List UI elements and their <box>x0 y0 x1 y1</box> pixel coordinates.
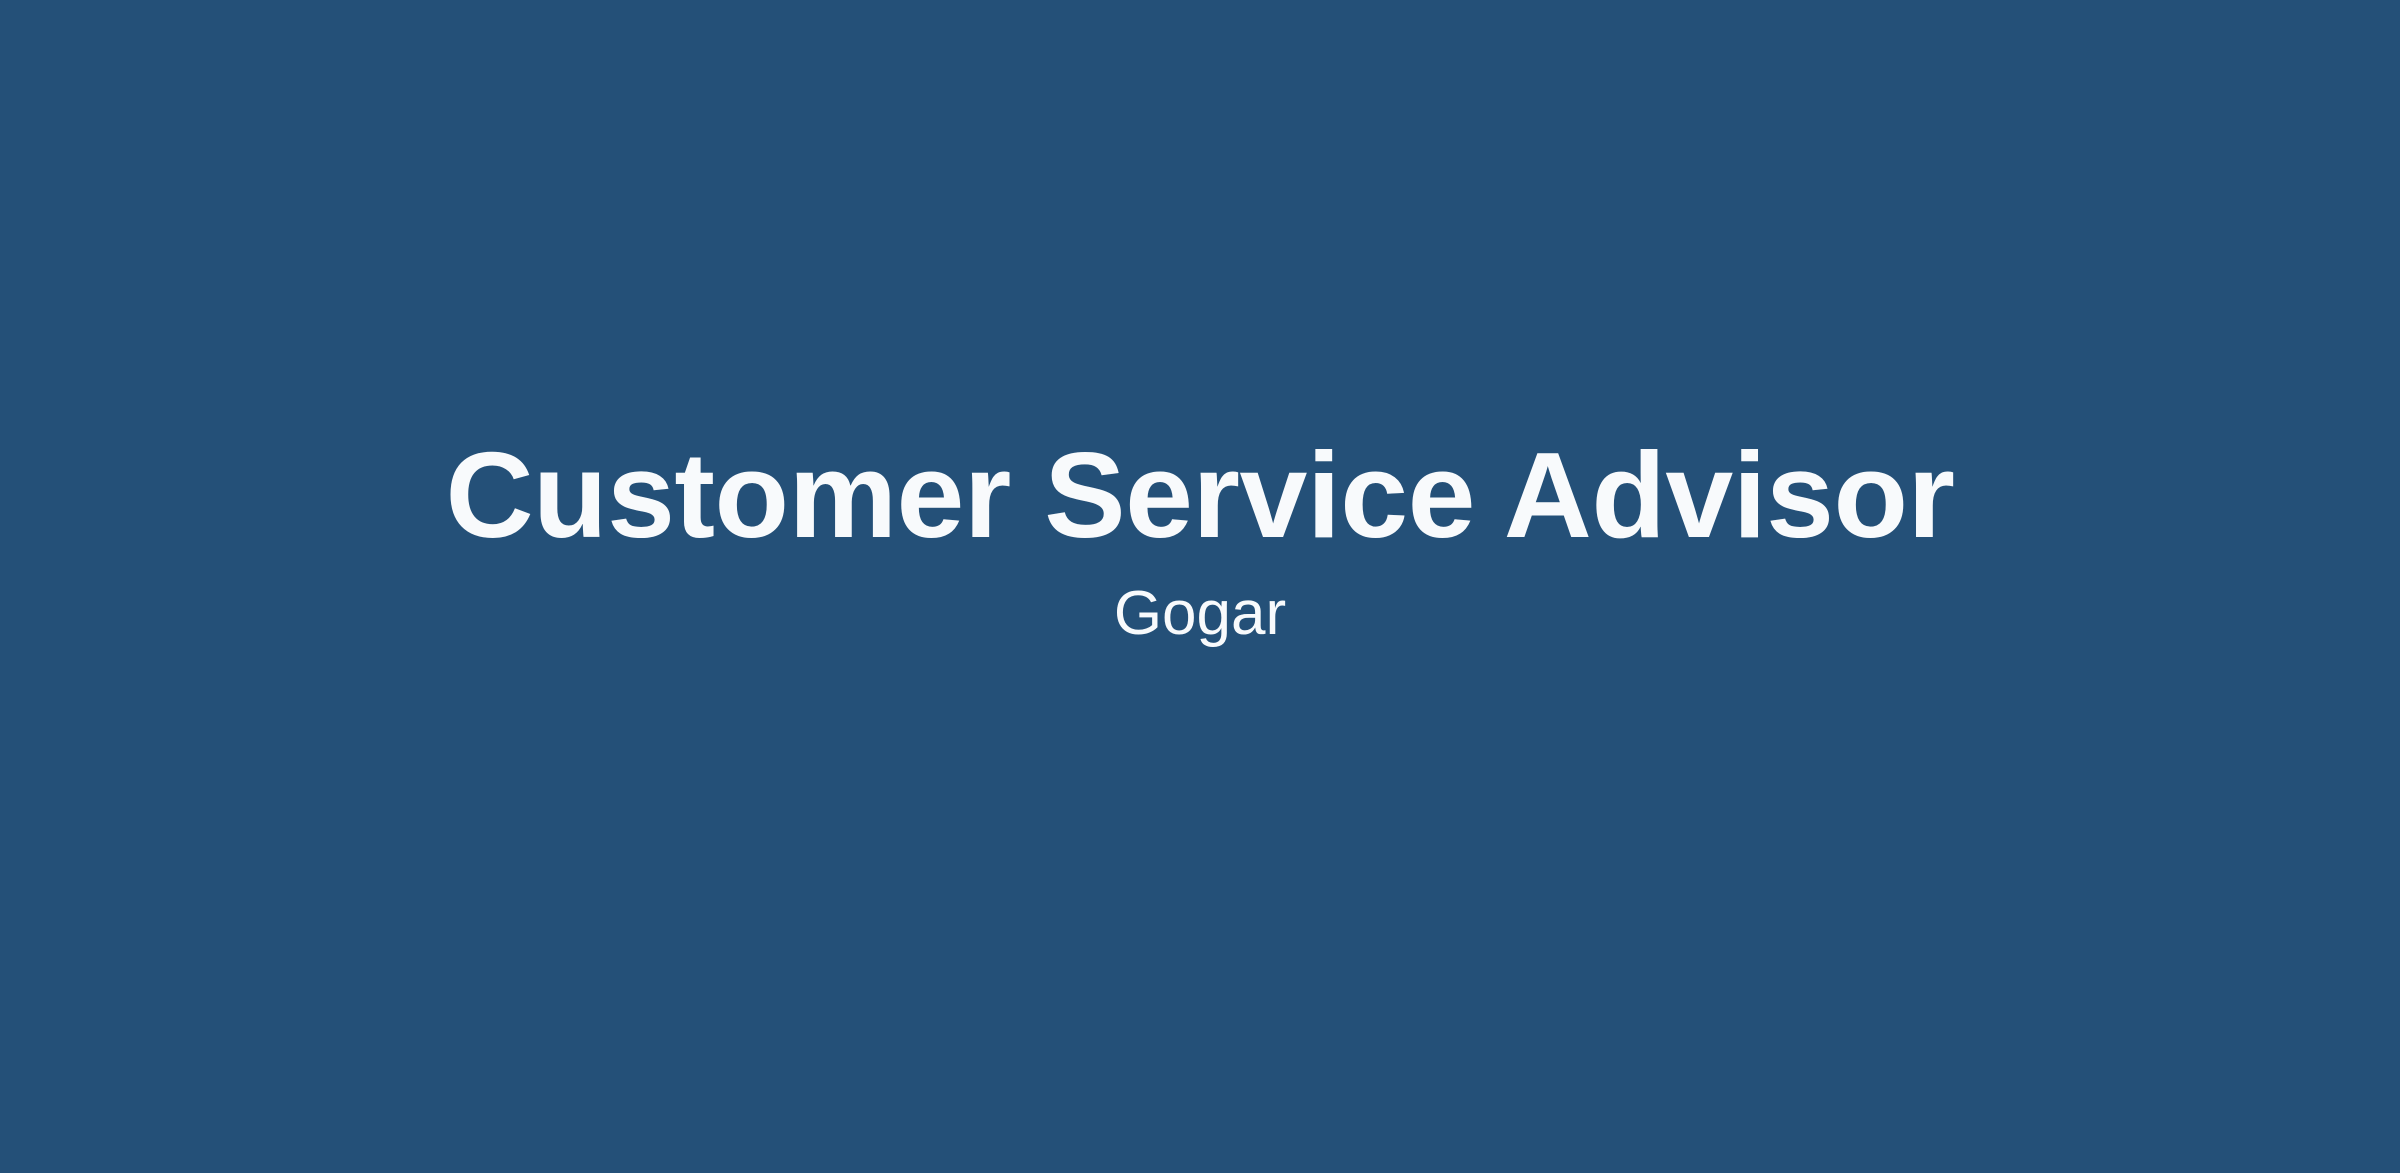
page-subtitle: Gogar <box>1114 577 1286 650</box>
hero-text-block: Customer Service Advisor Gogar <box>0 427 2400 651</box>
hero-page: Customer Service Advisor Gogar <box>0 0 2400 1173</box>
page-title: Customer Service Advisor <box>445 427 1954 564</box>
